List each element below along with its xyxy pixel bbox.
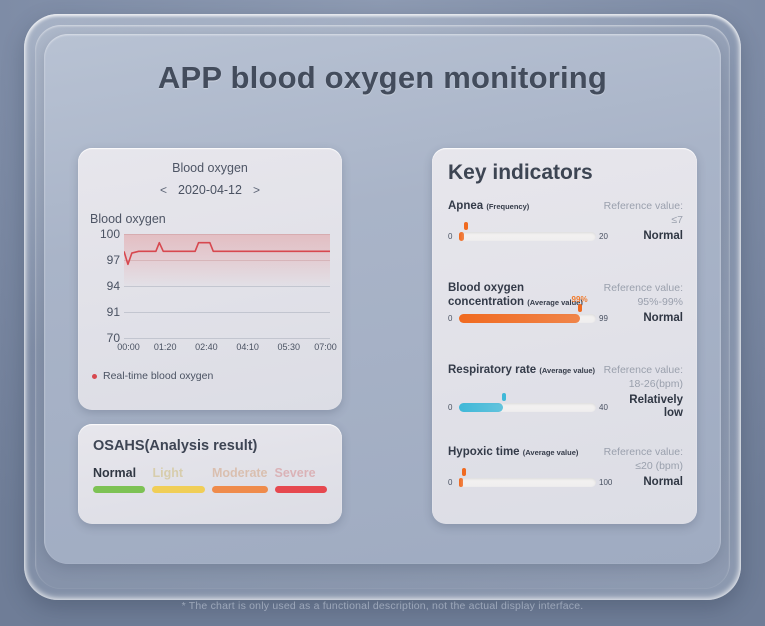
indicator-meter-row: 099%99Normal — [448, 312, 683, 325]
indicator-name-sub: (Frequency) — [486, 202, 529, 211]
indicator-row: Respiratory rate (Average value)Referenc… — [448, 364, 685, 446]
blood-oxygen-chart-panel: Blood oxygen < 2020-04-12 > Blood oxygen… — [78, 148, 342, 410]
app-root: APP blood oxygen monitoring Blood oxygen… — [0, 0, 765, 626]
osahs-level-bar — [93, 486, 145, 493]
indicator-reference-value: 18-26(bpm) — [575, 378, 683, 392]
indicator-meter-row: 020Normal — [448, 230, 683, 243]
indicator-meter[interactable] — [459, 403, 596, 412]
indicator-meter-marker — [502, 393, 506, 401]
indicator-row: Apnea (Frequency)Reference value:≤7020No… — [448, 200, 685, 282]
indicator-header: Respiratory rate (Average value)Referenc… — [448, 364, 685, 394]
indicator-meter[interactable] — [459, 478, 596, 487]
chart-plot-area: 10097949170 00:0001:2002:4004:1005:3007:… — [90, 234, 330, 358]
chart-x-tick-labels: 00:0001:2002:4004:1005:3007:00 — [124, 342, 330, 356]
indicator-status: Normal — [617, 312, 683, 325]
x-tick-label: 05:30 — [278, 342, 301, 352]
indicator-meter-fill — [459, 232, 464, 241]
key-indicators-list: Apnea (Frequency)Reference value:≤7020No… — [448, 200, 685, 528]
indicator-row: Blood oxygen concentration (Average valu… — [448, 282, 685, 364]
selected-date[interactable]: 2020-04-12 — [178, 183, 242, 197]
indicator-reference: Reference value:18-26(bpm) — [575, 364, 683, 391]
indicator-header: Apnea (Frequency)Reference value:≤7 — [448, 200, 685, 230]
indicator-meter[interactable]: 99% — [459, 314, 596, 323]
indicator-meter-value-bubble: 99% — [572, 295, 588, 304]
indicator-reference: Reference value:≤7 — [575, 200, 683, 227]
chart-canvas — [124, 234, 330, 338]
y-tick-label: 100 — [100, 228, 120, 240]
legend-dot-icon — [92, 374, 97, 379]
indicator-status: Normal — [617, 230, 683, 243]
indicator-meter[interactable] — [459, 232, 596, 241]
x-tick-label: 07:00 — [314, 342, 337, 352]
meter-min-label: 0 — [448, 403, 456, 412]
footnote: * The chart is only used as a functional… — [0, 600, 765, 612]
indicator-reference-label: Reference value: — [604, 200, 683, 212]
osahs-level-label: Severe — [275, 466, 327, 480]
osahs-level-bar — [152, 486, 204, 493]
indicator-meter-fill — [459, 403, 503, 412]
meter-max-label: 20 — [599, 232, 617, 241]
osahs-level-bar — [212, 486, 268, 493]
x-tick-label: 01:20 — [154, 342, 177, 352]
osahs-level-label: Light — [152, 466, 204, 480]
indicator-status: Normal — [617, 476, 683, 489]
indicator-reference-label: Reference value: — [604, 364, 683, 376]
osahs-level-normal[interactable]: Normal — [93, 466, 145, 493]
legend-label: Real-time blood oxygen — [103, 370, 213, 382]
indicator-reference-value: ≤7 — [575, 214, 683, 228]
chart-gridline — [124, 338, 330, 339]
osahs-severity-scale: NormalLightModerateSevere — [93, 466, 327, 493]
key-indicators-panel: Key indicators Apnea (Frequency)Referenc… — [432, 148, 697, 524]
y-tick-label: 94 — [107, 280, 120, 292]
indicator-reference: Reference value:≤20 (bpm) — [575, 446, 683, 473]
chart-panel-title: Blood oxygen — [78, 161, 342, 175]
indicator-row: Hypoxic time (Average value)Reference va… — [448, 446, 685, 528]
indicator-meter-marker — [462, 468, 466, 476]
indicator-reference: Reference value:95%-99% — [575, 282, 683, 309]
meter-max-label: 99 — [599, 314, 617, 323]
prev-day-arrow-icon[interactable]: < — [160, 183, 167, 197]
x-tick-label: 00:00 — [117, 342, 140, 352]
indicator-reference-label: Reference value: — [604, 446, 683, 458]
osahs-panel: OSAHS(Analysis result) NormalLightModera… — [78, 424, 342, 524]
meter-max-label: 40 — [599, 403, 617, 412]
meter-min-label: 0 — [448, 314, 456, 323]
indicator-reference-value: 95%-99% — [575, 296, 683, 310]
date-navigator: < 2020-04-12 > — [78, 183, 342, 197]
indicator-status: Relatively low — [617, 394, 683, 420]
y-tick-label: 91 — [107, 306, 120, 318]
chart-y-tick-labels: 10097949170 — [90, 234, 120, 338]
x-tick-label: 04:10 — [236, 342, 259, 352]
indicator-meter-marker — [464, 222, 468, 230]
key-indicators-title: Key indicators — [448, 161, 593, 185]
osahs-level-light[interactable]: Light — [152, 466, 204, 493]
chart-y-axis-title: Blood oxygen — [90, 212, 166, 226]
indicator-meter-fill — [459, 478, 463, 487]
page-title: APP blood oxygen monitoring — [0, 60, 765, 96]
indicator-reference-label: Reference value: — [604, 282, 683, 294]
y-tick-label: 97 — [107, 254, 120, 266]
chart-series-line — [124, 234, 330, 338]
osahs-level-label: Moderate — [212, 466, 268, 480]
osahs-level-bar — [275, 486, 327, 493]
indicator-name-sub: (Average value) — [523, 448, 579, 457]
indicator-meter-row: 0100Normal — [448, 476, 683, 489]
indicator-header: Hypoxic time (Average value)Reference va… — [448, 446, 685, 476]
meter-min-label: 0 — [448, 232, 456, 241]
meter-max-label: 100 — [599, 478, 617, 487]
indicator-header: Blood oxygen concentration (Average valu… — [448, 282, 685, 312]
indicator-reference-value: ≤20 (bpm) — [575, 460, 683, 474]
chart-legend: Real-time blood oxygen — [92, 370, 213, 382]
x-tick-label: 02:40 — [195, 342, 218, 352]
osahs-title: OSAHS(Analysis result) — [93, 438, 257, 454]
indicator-meter-marker — [578, 304, 582, 312]
indicator-meter-fill — [459, 314, 580, 323]
next-day-arrow-icon[interactable]: > — [253, 183, 260, 197]
osahs-level-severe[interactable]: Severe — [275, 466, 327, 493]
osahs-level-moderate[interactable]: Moderate — [212, 466, 268, 493]
osahs-level-label: Normal — [93, 466, 145, 480]
indicator-meter-row: 040Relatively low — [448, 394, 683, 420]
meter-min-label: 0 — [448, 478, 456, 487]
